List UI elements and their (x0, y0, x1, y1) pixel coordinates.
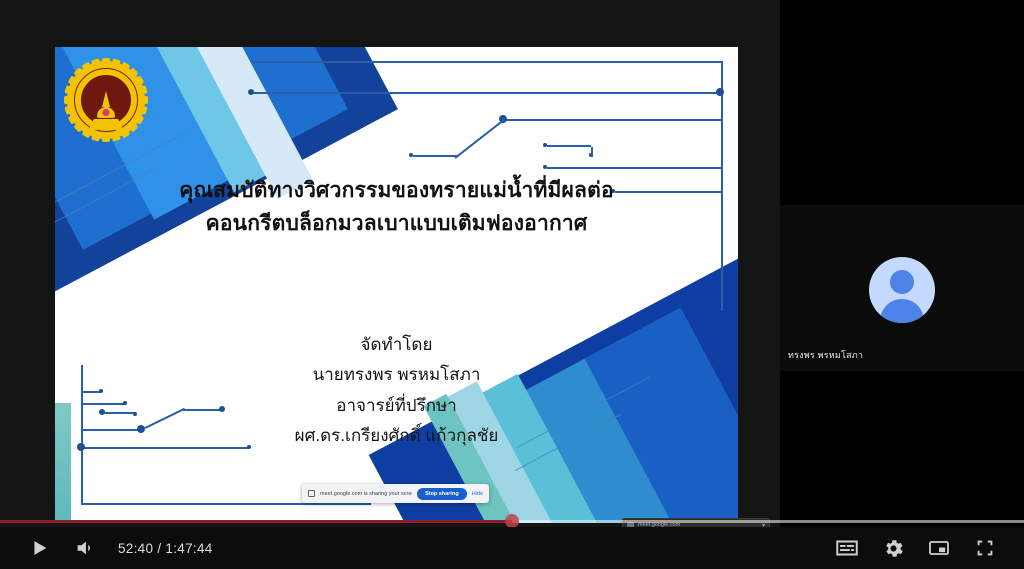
screen-share-notification-bar[interactable]: meet.google.com is sharing your screen. … (302, 484, 489, 503)
share-message: meet.google.com is sharing your screen. (320, 491, 412, 497)
volume-button[interactable] (62, 527, 108, 569)
meeting-stage: คุณสมบัติทางวิศวกรรมของทรายแม่น้ำที่มีผล… (0, 0, 1024, 569)
stop-sharing-button[interactable]: Stop sharing (417, 488, 467, 500)
play-button[interactable] (16, 527, 62, 569)
subtitles-button[interactable] (824, 527, 870, 569)
play-icon (28, 537, 50, 559)
slide-title-line-1: คุณสมบัติทางวิศวกรรมของทรายแม่น้ำที่มีผล… (55, 175, 738, 208)
miniplayer-button[interactable] (916, 527, 962, 569)
time-display: 52:40 / 1:47:44 (108, 541, 213, 556)
share-screen-icon (308, 490, 315, 497)
settings-button[interactable] (870, 527, 916, 569)
hide-share-bar-link[interactable]: Hide (472, 491, 483, 497)
slide-body-line-4: ผศ.ดร.เกรียงศักดิ์ แก้วกุลชัย (55, 421, 738, 451)
slide-body-line-2: นายทรงพร พรหมโสภา (55, 360, 738, 390)
fullscreen-icon (974, 537, 996, 559)
presentation-slide: คุณสมบัติทางวิศวกรรมของทรายแม่น้ำที่มีผล… (55, 47, 738, 523)
volume-icon (74, 537, 96, 559)
avatar-body-icon (880, 299, 924, 323)
player-control-bar: 52:40 / 1:47:44 (0, 527, 1024, 569)
slide-body-line-3: อาจารย์ที่ปรึกษา (55, 391, 738, 421)
slide-title: คุณสมบัติทางวิศวกรรมของทรายแม่น้ำที่มีผล… (55, 175, 738, 240)
participant-tile[interactable]: ทรงพร พรหมโสภา (780, 205, 1024, 371)
university-seal-logo (67, 61, 145, 139)
avatar (869, 257, 935, 323)
avatar-head-icon (890, 270, 914, 294)
slide-background: คุณสมบัติทางวิศวกรรมของทรายแม่น้ำที่มีผล… (55, 47, 738, 523)
participant-name: ทรงพร พรหมโสภา (788, 348, 863, 362)
video-player[interactable]: คุณสมบัติทางวิศวกรรมของทรายแม่น้ำที่มีผล… (0, 0, 1024, 569)
player-controls-right (824, 527, 1024, 569)
subtitles-icon (834, 535, 860, 561)
progress-bar[interactable] (0, 515, 1024, 527)
shared-screen-area: คุณสมบัติทางวิศวกรรมของทรายแม่น้ำที่มีผล… (0, 0, 780, 569)
player-controls-left: 52:40 / 1:47:44 (0, 527, 213, 569)
fullscreen-button[interactable] (962, 527, 1008, 569)
miniplayer-icon (927, 536, 951, 560)
progress-played (0, 520, 512, 523)
stupa-emblem (90, 91, 122, 130)
progress-scrubber-handle[interactable] (505, 514, 519, 528)
slide-body: จัดทำโดย นายทรงพร พรหมโสภา อาจารย์ที่ปรึ… (55, 330, 738, 451)
gear-icon (882, 537, 905, 560)
slide-title-line-2: คอนกรีตบล็อกมวลเบาแบบเติมฟองอากาศ (55, 208, 738, 241)
slide-body-line-1: จัดทำโดย (55, 330, 738, 360)
